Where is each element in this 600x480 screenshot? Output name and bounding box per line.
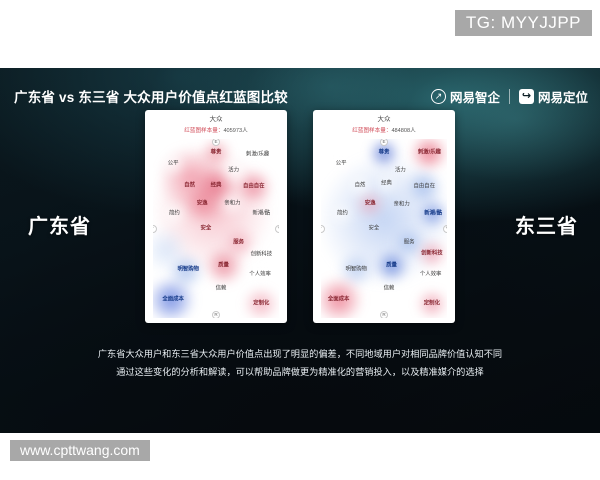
chart-sample-size-left: 红蓝图样本量：405973人 bbox=[150, 129, 282, 135]
slide-header: 广东省 vs 东三省 大众用户价值点红蓝图比较 ↗ 网易智企 ↪ 网易定位 bbox=[0, 75, 600, 117]
value-point-label[interactable]: 经典 bbox=[211, 183, 222, 188]
value-point-label[interactable]: 安逸 bbox=[197, 201, 208, 206]
value-point-label[interactable]: 自由自在 bbox=[243, 185, 265, 190]
chart-brand-title-left: 大众 bbox=[150, 117, 282, 124]
value-point-label[interactable]: 经典 bbox=[381, 181, 392, 186]
value-point-label[interactable]: 明智购物 bbox=[177, 267, 199, 272]
sample-value-right: 484808 bbox=[391, 128, 410, 134]
axis-marker-plus-right[interactable]: + bbox=[443, 225, 447, 233]
value-point-label[interactable]: 公平 bbox=[168, 161, 179, 166]
brand-logo-group: ↗ 网易智企 ↪ 网易定位 bbox=[431, 87, 588, 106]
caption-line-1: 广东省大众用户和东三省大众用户价值点出现了明显的偏差，不同地域用户对相同品牌价值… bbox=[40, 346, 560, 364]
value-point-label[interactable]: 服务 bbox=[404, 240, 415, 245]
caption-line-2: 通过这些变化的分析和解读，可以帮助品牌做更为精准化的营销投入，以及精准媒介的选择 bbox=[40, 364, 560, 382]
value-point-label[interactable]: 亲和力 bbox=[224, 201, 240, 206]
value-point-label[interactable]: 公平 bbox=[336, 161, 347, 166]
value-point-label[interactable]: 定制化 bbox=[253, 301, 269, 306]
value-point-label[interactable]: 安全 bbox=[369, 226, 380, 231]
sample-unit-left: 人 bbox=[242, 128, 248, 134]
sample-unit-right: 人 bbox=[410, 128, 416, 134]
logo-label-zhiqi: 网易智企 bbox=[450, 87, 500, 106]
chart-sample-size-right: 红蓝图样本量：484808人 bbox=[318, 129, 450, 135]
sample-label-right: 红蓝图样本量： bbox=[352, 128, 391, 134]
value-point-label[interactable]: 简约 bbox=[337, 212, 348, 217]
axis-marker-minus-left[interactable]: - bbox=[153, 225, 157, 233]
value-point-label[interactable]: 刺激/乐趣 bbox=[246, 152, 269, 157]
value-point-label[interactable]: 个人效率 bbox=[420, 272, 442, 277]
site-watermark-badge: www.cpttwang.com bbox=[10, 440, 150, 461]
value-point-label[interactable]: 安逸 bbox=[365, 201, 376, 206]
value-point-label[interactable]: 自然 bbox=[184, 183, 195, 188]
axis-marker-minus-right[interactable]: - bbox=[321, 225, 325, 233]
value-point-label[interactable]: 全面成本 bbox=[328, 297, 350, 302]
value-point-label[interactable]: 创新科技 bbox=[421, 251, 443, 256]
region-label-right: 东三省 bbox=[515, 210, 578, 239]
chart-circle-icon: ↗ bbox=[431, 89, 446, 104]
logo-wangyi-dingwei: ↪ 网易定位 bbox=[519, 87, 588, 106]
slide-caption: 广东省大众用户和东三省大众用户价值点出现了明显的偏差，不同地域用户对相同品牌价值… bbox=[0, 346, 600, 382]
page-title: 广东省 vs 东三省 大众用户价值点红蓝图比较 bbox=[14, 86, 288, 106]
value-point-label[interactable]: 信赖 bbox=[216, 287, 227, 292]
slide-body: 广东省 vs 东三省 大众用户价值点红蓝图比较 ↗ 网易智企 ↪ 网易定位 广东… bbox=[0, 68, 600, 433]
axis-marker-r-left: R bbox=[212, 311, 220, 318]
value-point-label[interactable]: 创新科技 bbox=[251, 253, 273, 258]
value-point-label[interactable]: 活力 bbox=[395, 169, 406, 174]
slide-canvas: TG: MYYJJPP 广东省 vs 东三省 大众用户价值点红蓝图比较 ↗ 网易… bbox=[0, 0, 600, 480]
value-point-label[interactable]: 新潮/酷 bbox=[253, 212, 271, 217]
logo-wangyi-zhiqi: ↗ 网易智企 bbox=[431, 87, 500, 106]
value-point-label[interactable]: 明智购物 bbox=[345, 267, 367, 272]
value-point-label[interactable]: 质量 bbox=[386, 263, 397, 268]
value-point-label[interactable]: 亲和力 bbox=[394, 203, 410, 208]
axis-marker-e-left: E bbox=[212, 139, 220, 146]
value-point-label[interactable]: 安全 bbox=[201, 226, 212, 231]
heatmap-plot-guangdong[interactable]: 公平尊贵刺激/乐趣活力自然经典自由自在安逸亲和力简约新潮/酷安全服务创新科技明智… bbox=[153, 139, 279, 318]
value-point-label[interactable]: 全面成本 bbox=[162, 297, 184, 302]
sample-value-left: 405973 bbox=[223, 128, 242, 134]
value-point-label[interactable]: 自由自在 bbox=[414, 185, 436, 190]
value-point-label[interactable]: 服务 bbox=[233, 240, 244, 245]
arrow-square-icon: ↪ bbox=[519, 89, 534, 104]
value-point-label[interactable]: 个人效率 bbox=[249, 272, 271, 277]
value-point-label[interactable]: 自然 bbox=[355, 183, 366, 188]
axis-marker-e-right: E bbox=[380, 139, 388, 146]
value-point-label[interactable]: 新潮/酷 bbox=[424, 212, 442, 217]
chart-brand-title-right: 大众 bbox=[318, 117, 450, 124]
top-white-strip: TG: MYYJJPP bbox=[0, 0, 600, 68]
value-point-label[interactable]: 简约 bbox=[169, 212, 180, 217]
value-point-label[interactable]: 质量 bbox=[218, 263, 229, 268]
sample-label-left: 红蓝图样本量： bbox=[184, 128, 223, 134]
region-label-left: 广东省 bbox=[28, 210, 91, 239]
heatmap-blob bbox=[156, 148, 226, 208]
heatmap-blob bbox=[321, 155, 447, 285]
value-point-label[interactable]: 尊贵 bbox=[211, 151, 222, 156]
logo-divider bbox=[509, 89, 510, 104]
tg-watermark-badge: TG: MYYJJPP bbox=[455, 10, 592, 36]
chart-card-guangdong: 大众 红蓝图样本量：405973人 公平尊贵刺激/乐趣活力自然经典自由自在安逸亲… bbox=[145, 110, 287, 323]
value-point-label[interactable]: 活力 bbox=[228, 169, 239, 174]
axis-marker-plus-left[interactable]: + bbox=[275, 225, 279, 233]
value-point-label[interactable]: 刺激/乐趣 bbox=[418, 151, 441, 156]
value-point-label[interactable]: 信赖 bbox=[384, 287, 395, 292]
logo-label-dingwei: 网易定位 bbox=[538, 87, 588, 106]
value-point-label[interactable]: 尊贵 bbox=[379, 151, 390, 156]
heatmap-plot-dongsansheng[interactable]: 公平尊贵刺激/乐趣活力自然经典自由自在安逸亲和力简约新潮/酷安全服务创新科技明智… bbox=[321, 139, 447, 318]
value-point-label[interactable]: 定制化 bbox=[424, 301, 440, 306]
bottom-white-strip: www.cpttwang.com bbox=[0, 433, 600, 480]
chart-card-dongsansheng: 大众 红蓝图样本量：484808人 公平尊贵刺激/乐趣活力自然经典自由自在安逸亲… bbox=[313, 110, 455, 323]
axis-marker-r-right: R bbox=[380, 311, 388, 318]
